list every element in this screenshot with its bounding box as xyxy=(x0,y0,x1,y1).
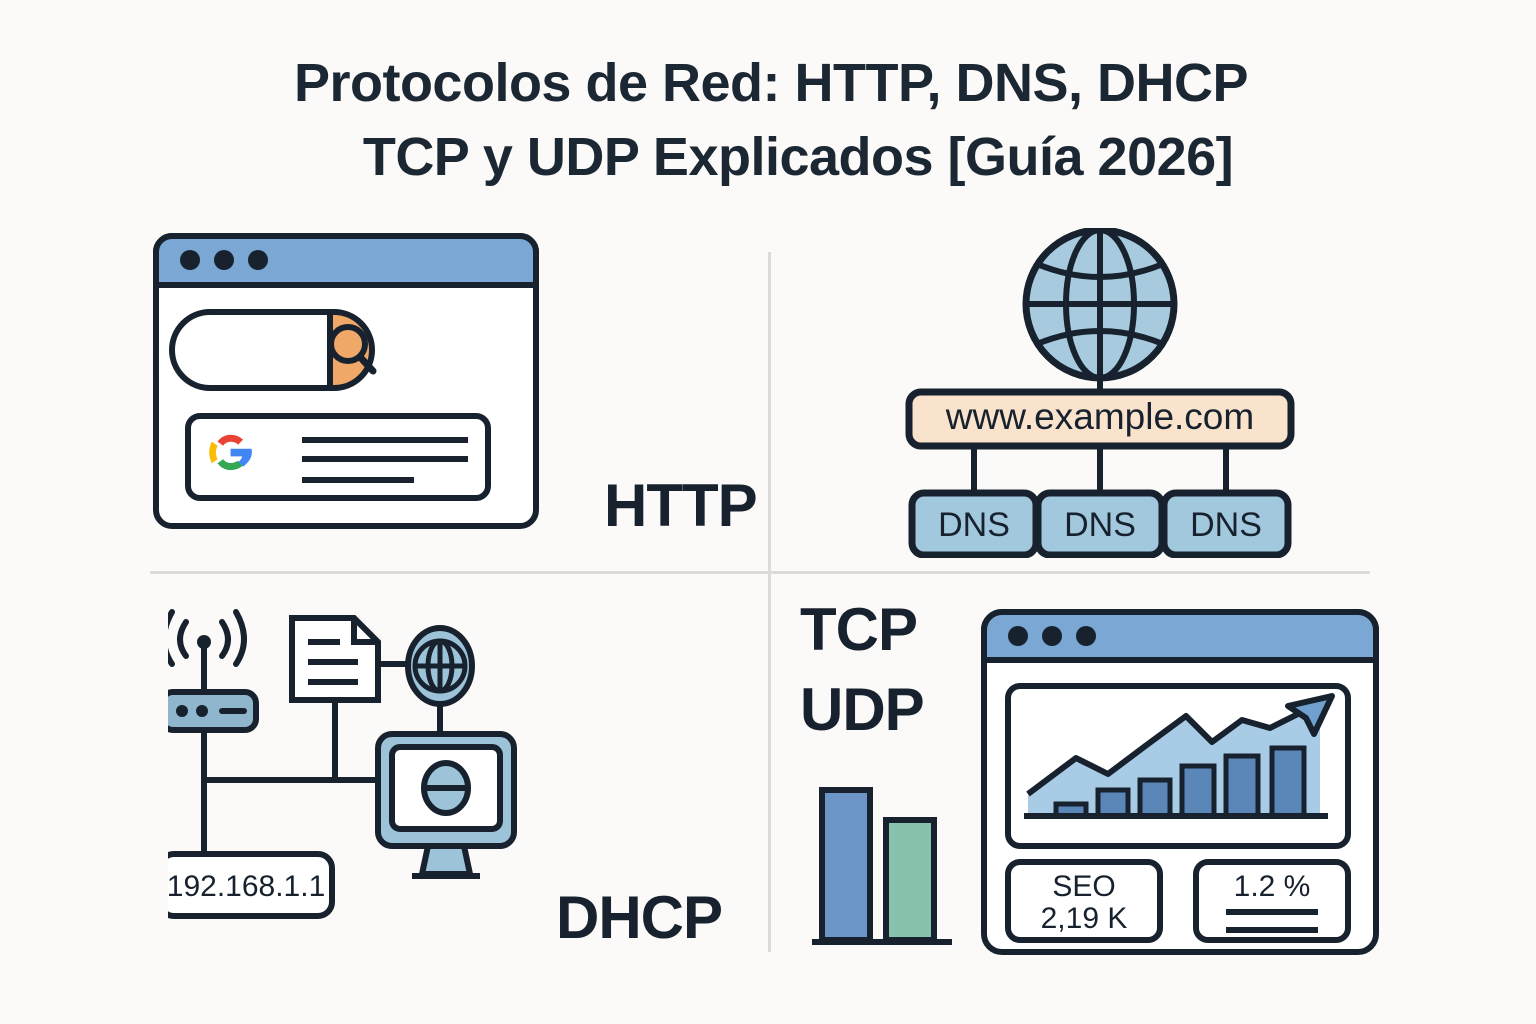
ip-address-box[interactable]: 192.168.1.1 xyxy=(168,854,332,916)
stat-card[interactable]: 1.2 % xyxy=(1196,862,1348,940)
growth-bar-2 xyxy=(1098,790,1128,816)
stat-card-label-seo: SEO xyxy=(1052,870,1115,903)
dns-node-label: DNS xyxy=(938,506,1010,544)
horizontal-divider xyxy=(150,571,1370,574)
protocol-label-dhcp: DHCP xyxy=(556,888,722,948)
router-led-2 xyxy=(196,705,208,717)
growth-chart-panel[interactable] xyxy=(1008,686,1348,846)
bar-udp xyxy=(886,820,934,940)
globe-small-icon[interactable] xyxy=(408,628,472,704)
tcp-udp-bar-chart xyxy=(812,782,952,957)
browser-window-search-icon xyxy=(152,232,542,532)
ip-address-label: 192.168.1.1 xyxy=(168,870,325,903)
dns-node[interactable]: DNS xyxy=(1164,493,1288,555)
dns-node-label: DNS xyxy=(1190,506,1262,544)
monitor-stand xyxy=(422,846,470,874)
growth-bar-5 xyxy=(1226,756,1258,816)
comparison-bars-icon xyxy=(812,782,952,952)
growth-bar-6 xyxy=(1272,748,1304,816)
analytics-dashboard-illustration: SEO 2,19 K 1.2 % xyxy=(980,608,1380,963)
search-result-card[interactable] xyxy=(188,416,488,498)
globe-icon xyxy=(1026,230,1174,378)
vertical-divider xyxy=(768,252,771,952)
protocol-label-tcp: TCP xyxy=(800,600,917,660)
globe-dns-tree-icon: www.example.com DNS DNS DNS xyxy=(900,228,1300,558)
browser-titlebar xyxy=(156,236,536,285)
protocol-label-udp: UDP xyxy=(800,680,924,740)
domain-box-label: www.example.com xyxy=(945,396,1254,437)
window-dot-2[interactable] xyxy=(214,250,234,270)
router-led-1 xyxy=(176,705,188,717)
bar-tcp xyxy=(822,790,870,940)
analytics-dashboard-icon: SEO 2,19 K 1.2 % xyxy=(980,608,1380,958)
window-dot-1[interactable] xyxy=(180,250,200,270)
growth-bar-3 xyxy=(1140,780,1170,816)
page-title: Protocolos de Red: HTTP, DNS, DHCP TCP y… xyxy=(0,46,1536,194)
growth-bar-4 xyxy=(1182,766,1214,816)
window-dot-2[interactable] xyxy=(1042,626,1062,646)
dns-node[interactable]: DNS xyxy=(1038,493,1162,555)
wifi-signal-icon xyxy=(168,612,244,696)
dns-node[interactable]: DNS xyxy=(912,493,1036,555)
infographic-canvas: Protocolos de Red: HTTP, DNS, DHCP TCP y… xyxy=(0,0,1536,1024)
stat-card[interactable]: SEO 2,19 K xyxy=(1008,862,1160,940)
stat-card-value-ctr: 1.2 % xyxy=(1234,870,1311,903)
http-browser-illustration xyxy=(152,232,542,537)
protocol-label-http: HTTP xyxy=(604,476,757,536)
wifi-router-icon[interactable] xyxy=(168,692,256,730)
domain-box[interactable]: www.example.com xyxy=(909,392,1291,446)
desktop-monitor-icon[interactable] xyxy=(378,734,514,876)
dns-tree-illustration: www.example.com DNS DNS DNS xyxy=(900,228,1300,563)
dns-node-label: DNS xyxy=(1064,506,1136,544)
stat-card-value-seo: 2,19 K xyxy=(1041,902,1128,935)
search-input[interactable] xyxy=(172,312,330,388)
page-title-line-2: TCP y UDP Explicados [Guía 2026] xyxy=(0,120,1536,194)
window-dot-1[interactable] xyxy=(1008,626,1028,646)
document-icon[interactable] xyxy=(292,618,378,700)
window-dot-3[interactable] xyxy=(248,250,268,270)
page-title-line-1: Protocolos de Red: HTTP, DNS, DHCP xyxy=(0,46,1536,120)
window-dot-3[interactable] xyxy=(1076,626,1096,646)
